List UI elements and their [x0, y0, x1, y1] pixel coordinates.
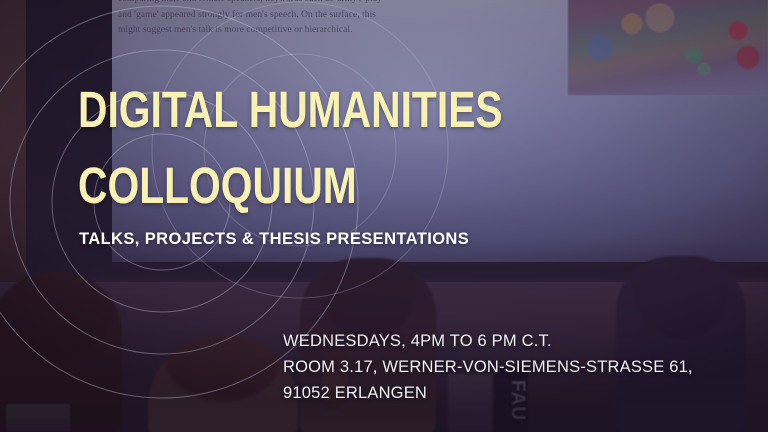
- detail-line-time: WEDNESDAYS, 4PM TO 6 PM C.T.: [283, 328, 763, 354]
- poster-canvas: comparing male and female speakers, keyw…: [0, 0, 768, 432]
- poster-subtitle: TALKS, PROJECTS & THESIS PRESENTATIONS: [79, 230, 469, 249]
- title-line-1: DIGITAL HUMANITIES: [78, 84, 494, 136]
- event-details: WEDNESDAYS, 4PM TO 6 PM C.T. ROOM 3.17, …: [283, 328, 763, 406]
- detail-line-address: ROOM 3.17, WERNER-VON-SIEMENS-STRASSE 61…: [283, 354, 763, 380]
- title-line-2: COLLOQUIUM: [78, 160, 494, 212]
- detail-line-city: 91052 ERLANGEN: [283, 380, 763, 406]
- poster-content: DIGITAL HUMANITIES COLLOQUIUM TALKS, PRO…: [0, 0, 768, 432]
- page-title: DIGITAL HUMANITIES COLLOQUIUM: [78, 84, 598, 212]
